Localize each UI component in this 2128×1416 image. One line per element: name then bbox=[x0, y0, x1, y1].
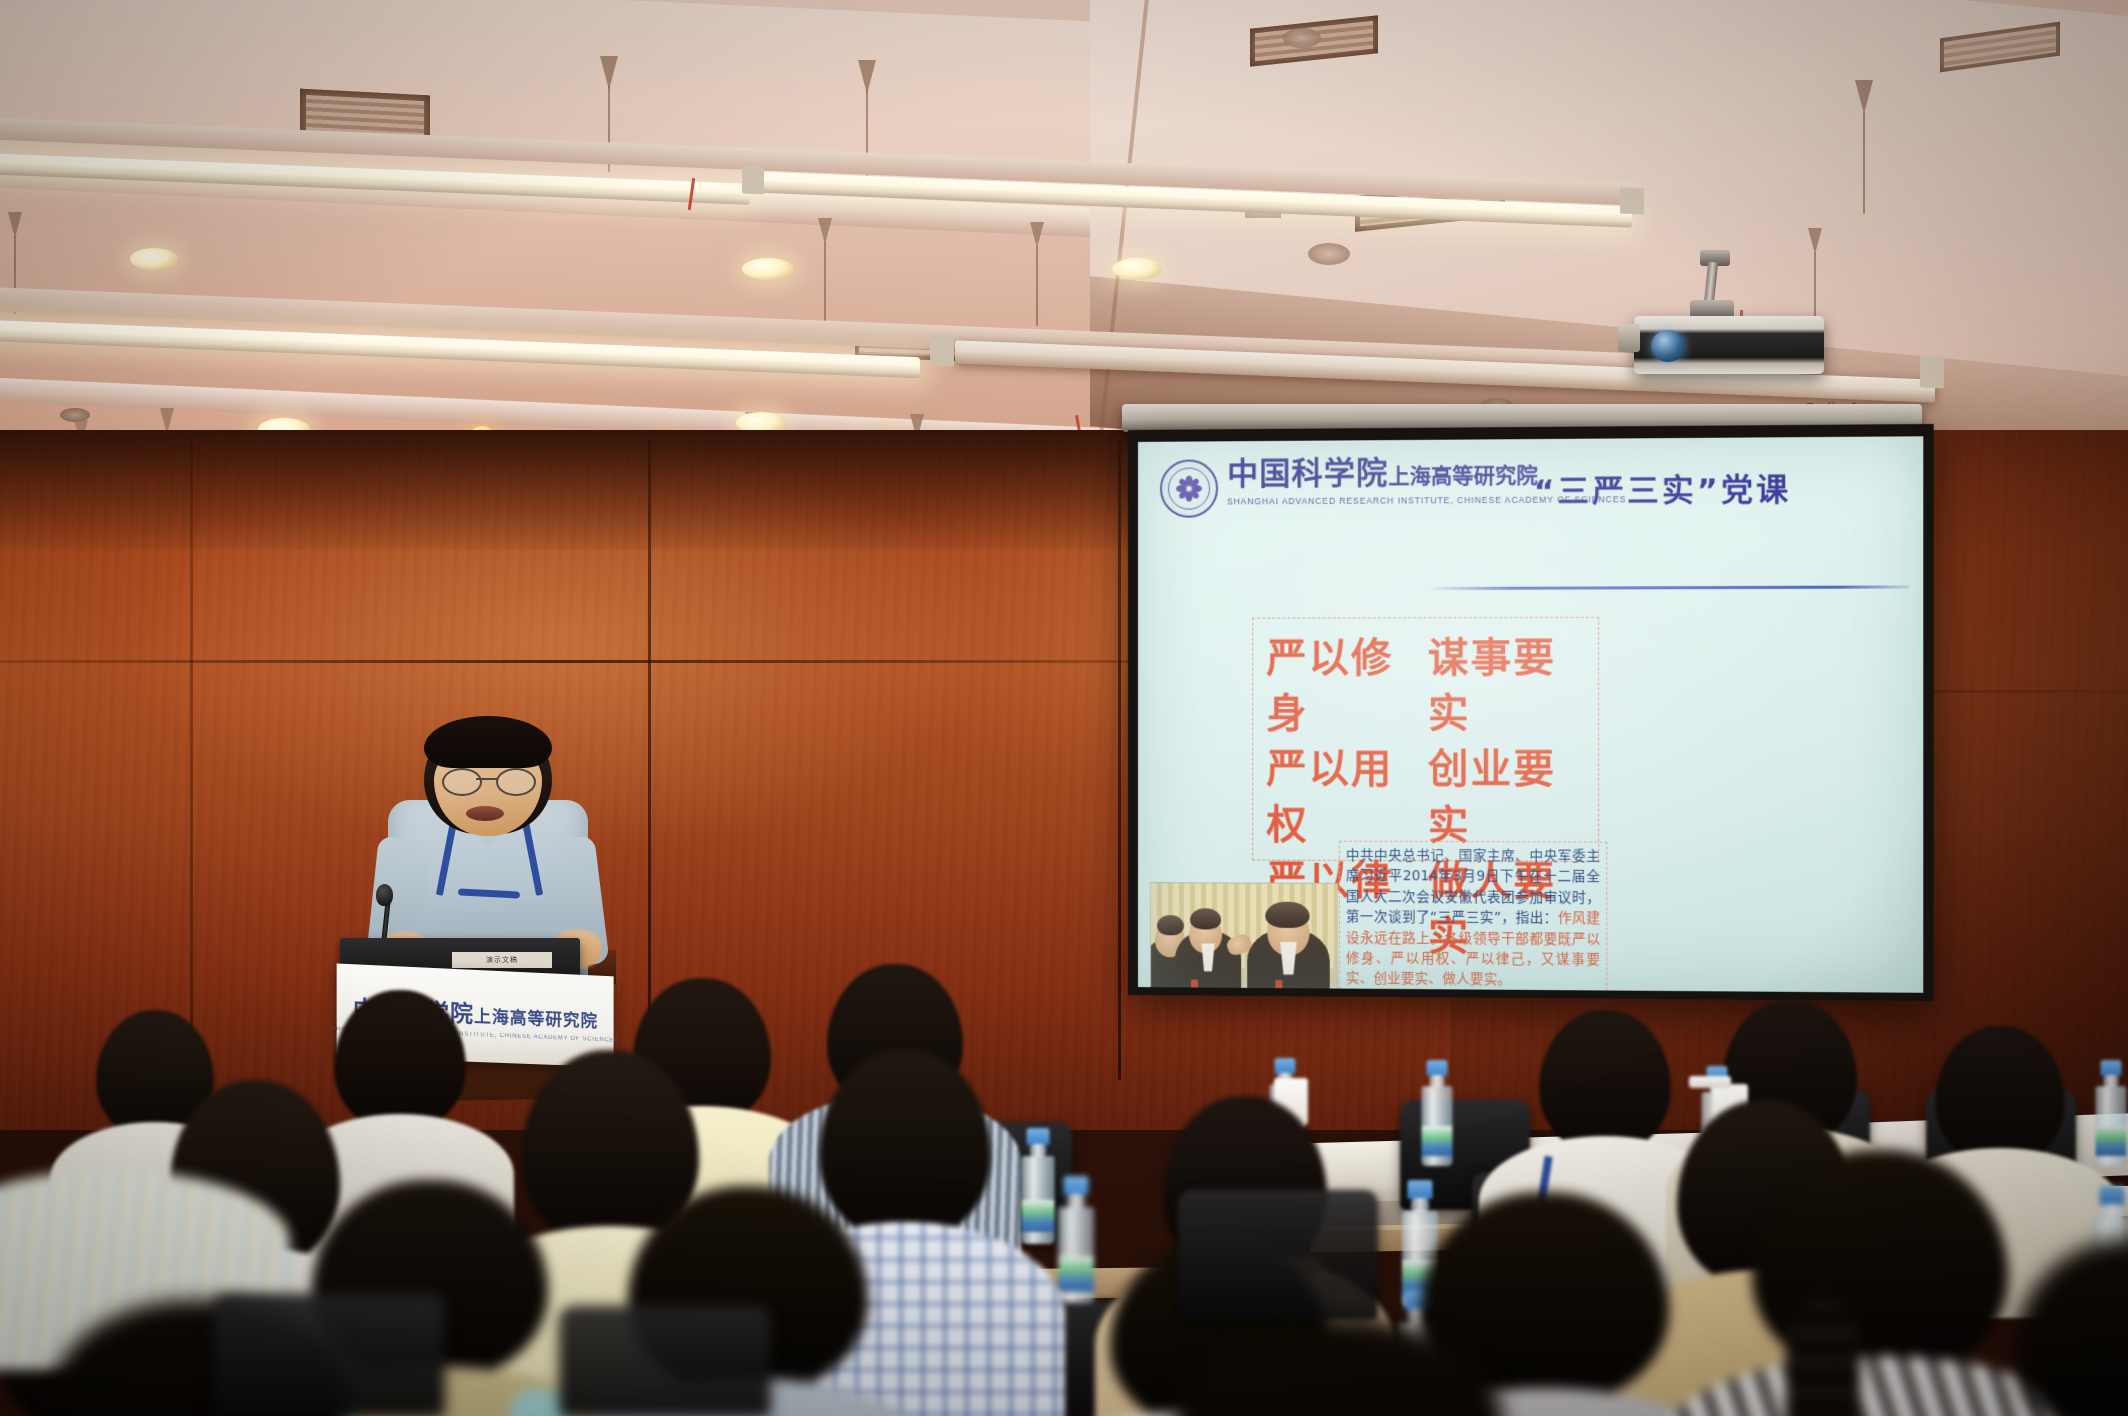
verse-right: 谋事要实 bbox=[1428, 631, 1591, 743]
light-hanger-cone bbox=[8, 212, 22, 238]
chair bbox=[1178, 1190, 1378, 1320]
ceiling-pendant-base bbox=[60, 408, 90, 422]
speaker-glasses-right bbox=[496, 768, 536, 796]
attendee-front-right bbox=[2030, 1240, 2128, 1416]
braid bbox=[1786, 1300, 1860, 1416]
cas-flower-icon bbox=[1176, 476, 1202, 502]
recessed-downlight bbox=[742, 258, 794, 280]
slide-meeting-photo bbox=[1150, 882, 1338, 993]
wall-seam bbox=[0, 660, 1130, 663]
verse-left: 严以用权 bbox=[1266, 742, 1428, 853]
chair bbox=[560, 1306, 770, 1416]
light-hanger-cone bbox=[1808, 228, 1822, 254]
water-bottle bbox=[1420, 1060, 1454, 1166]
projector-side-panel bbox=[1618, 324, 1640, 352]
light-hanger-cone bbox=[858, 60, 876, 94]
attendee-front-center bbox=[1118, 1318, 1558, 1416]
microphone-head bbox=[376, 884, 393, 906]
slide-title-rule bbox=[1426, 585, 1909, 590]
light-hanger-cone bbox=[600, 56, 618, 90]
speaker-mouth bbox=[466, 806, 504, 821]
head bbox=[1173, 1318, 1503, 1416]
chair bbox=[214, 1294, 444, 1416]
slide-org-sub: 上海高等研究院 bbox=[1388, 463, 1537, 488]
cas-seal-icon bbox=[1160, 459, 1218, 517]
wall-top-shadow bbox=[0, 430, 1250, 550]
verse-right: 创业要实 bbox=[1428, 743, 1591, 855]
projection-screen: 中国科学院上海高等研究院 SHANGHAI ADVANCED RESEARCH … bbox=[1138, 436, 1923, 993]
paper-cup-lid bbox=[1689, 1076, 1731, 1088]
head bbox=[2015, 1240, 2128, 1416]
light-hanger-wire bbox=[1863, 112, 1865, 214]
head bbox=[1935, 1026, 2065, 1164]
speaker-glasses-left bbox=[442, 768, 482, 796]
photo-official-hair bbox=[1157, 915, 1184, 935]
wall-seam bbox=[190, 440, 193, 1080]
photo-delegate-badge bbox=[1275, 980, 1282, 991]
verse-left: 严以修身 bbox=[1266, 631, 1428, 742]
speaker-glasses-bridge bbox=[476, 778, 498, 780]
lecture-hall-photo: Redleaf bbox=[0, 0, 2128, 1416]
recessed-downlight bbox=[130, 248, 178, 270]
attendee-zebra-print bbox=[1700, 1150, 2060, 1416]
projector-lens bbox=[1651, 330, 1685, 362]
ceiling-speaker bbox=[1308, 243, 1350, 265]
light-hanger-cone bbox=[1030, 222, 1044, 248]
photo-delegate-badge bbox=[1191, 979, 1198, 990]
slide-title: “三严三实”党课 bbox=[1534, 464, 1792, 511]
laptop-screen-label: 演示文稿 bbox=[452, 952, 552, 968]
photo-official-hair bbox=[1190, 908, 1221, 929]
recessed-downlight bbox=[1112, 258, 1162, 280]
verse-row: 严以修身 谋事要实 bbox=[1266, 631, 1591, 743]
slide-org-main: 中国科学院 bbox=[1227, 455, 1388, 492]
wall-seam bbox=[1118, 440, 1121, 1080]
light-hanger-wire bbox=[824, 242, 826, 322]
photo-speaker-hair bbox=[1265, 902, 1309, 928]
ceiling-speaker bbox=[1283, 28, 1321, 48]
slide-paragraph: 中共中央总书记、国家主席、中央军委主席习近平2014年3月9日下午在十二届全国人… bbox=[1346, 847, 1600, 992]
light-hanger-wire bbox=[1036, 246, 1038, 326]
verse-row: 严以用权 创业要实 bbox=[1266, 742, 1591, 854]
water-bottle bbox=[2094, 1060, 2128, 1166]
projection-screen-frame: 中国科学院上海高等研究院 SHANGHAI ADVANCED RESEARCH … bbox=[1128, 424, 1934, 1001]
light-hanger-cone bbox=[1855, 80, 1873, 114]
light-hanger-cone bbox=[818, 218, 832, 244]
